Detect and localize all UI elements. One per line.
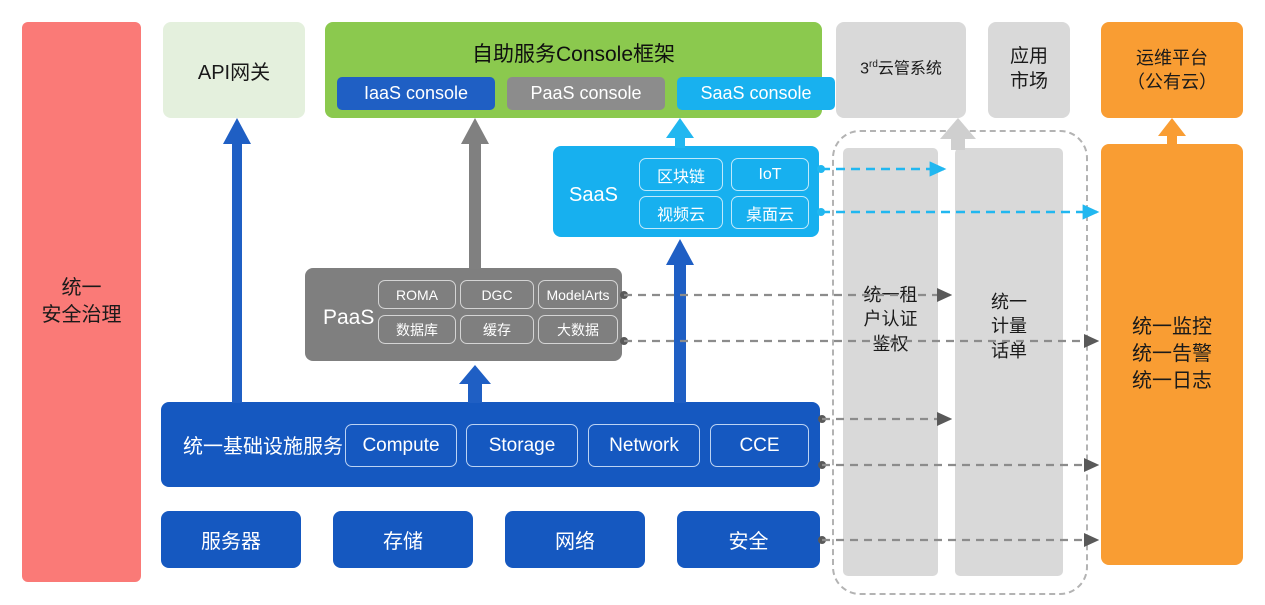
auth-pillar-line3: 鉴权: [843, 332, 938, 356]
hardware-storage-label: 存储: [383, 525, 423, 554]
hardware-network-box[interactable]: 网络: [505, 511, 645, 568]
infra-service-cce-label: CCE: [739, 435, 779, 457]
paas-service-modelarts-label: ModelArts: [546, 287, 609, 303]
hardware-storage-box[interactable]: 存储: [333, 511, 473, 568]
paas-service-dgc-label: DGC: [481, 287, 512, 303]
saas-console-chip[interactable]: SaaS console: [677, 77, 835, 110]
auth-pillar-line2: 户认证: [843, 307, 938, 331]
billing-pillar-text: 统一 计量 话单: [955, 290, 1063, 363]
ops-platform-line2: （公有云）: [1127, 70, 1217, 94]
infra-service-storage-label: Storage: [489, 435, 556, 457]
paas-service-database[interactable]: 数据库: [378, 315, 456, 344]
saas-block-label: SaaS: [569, 184, 618, 207]
third-party-prefix: 3: [860, 61, 869, 78]
paas-service-roma[interactable]: ROMA: [378, 280, 456, 309]
paas-service-cache-label: 缓存: [483, 320, 511, 340]
saas-service-blockchain[interactable]: 区块链: [639, 158, 723, 191]
console-framework-title: 自助服务Console框架: [325, 38, 822, 68]
arrow-infra-to-saas: [665, 239, 695, 403]
security-governance-panel: 统一 安全治理: [22, 22, 141, 582]
arrow-shared-to-third-party: [938, 118, 978, 150]
saas-service-desktopcloud[interactable]: 桌面云: [731, 196, 809, 229]
paas-console-chip[interactable]: PaaS console: [507, 77, 665, 110]
paas-service-roma-label: ROMA: [396, 287, 438, 303]
paas-service-cache[interactable]: 缓存: [460, 315, 534, 344]
ops-panel-line2: 统一告警: [1132, 341, 1212, 368]
infra-service-compute[interactable]: Compute: [345, 424, 457, 467]
arrow-shared-to-ops-platform: [1157, 118, 1187, 146]
arrow-saas-to-console: [665, 118, 695, 148]
security-panel-line2: 安全治理: [42, 302, 122, 329]
arrow-infra-to-api-gateway: [222, 118, 252, 403]
ops-platform-box[interactable]: 运维平台 （公有云）: [1101, 22, 1243, 118]
api-gateway-label: API网关: [198, 56, 270, 85]
third-party-superscript: rd: [869, 59, 878, 70]
saas-service-desktopcloud-label: 桌面云: [746, 201, 794, 225]
security-panel-line1: 统一: [42, 275, 122, 302]
saas-console-label: SaaS console: [700, 83, 811, 104]
arrow-paas-to-console: [460, 118, 490, 269]
third-party-label: 云管系统: [878, 61, 942, 78]
ops-panel-line3: 统一日志: [1132, 368, 1212, 395]
billing-pillar-line3: 话单: [955, 339, 1063, 363]
billing-pillar-line2: 计量: [955, 314, 1063, 338]
architecture-diagram: 统一 安全治理 API网关 自助服务Console框架 IaaS console…: [0, 0, 1265, 605]
iaas-console-chip[interactable]: IaaS console: [337, 77, 495, 110]
ops-panel-line1: 统一监控: [1132, 314, 1212, 341]
iaas-console-label: IaaS console: [364, 83, 468, 104]
third-party-cloud-mgmt-box[interactable]: 3rd云管系统: [836, 22, 966, 118]
infra-service-cce[interactable]: CCE: [710, 424, 809, 467]
arrow-infra-to-paas: [458, 365, 492, 403]
infra-service-network[interactable]: Network: [588, 424, 700, 467]
paas-block: PaaS ROMA DGC ModelArts 数据库 缓存 大数据: [305, 268, 622, 361]
saas-service-iot[interactable]: IoT: [731, 158, 809, 191]
app-market-line2: 市场: [1010, 70, 1048, 95]
saas-block: SaaS 区块链 IoT 视频云 桌面云: [553, 146, 819, 237]
hardware-security-label: 安全: [729, 525, 769, 554]
paas-block-label: PaaS: [323, 306, 374, 330]
paas-console-label: PaaS console: [530, 83, 641, 104]
paas-service-modelarts[interactable]: ModelArts: [538, 280, 618, 309]
saas-service-blockchain-label: 区块链: [657, 163, 705, 187]
hardware-server-label: 服务器: [201, 525, 261, 554]
paas-service-bigdata-label: 大数据: [557, 320, 599, 340]
hardware-security-box[interactable]: 安全: [677, 511, 820, 568]
saas-service-iot-label: IoT: [758, 166, 781, 184]
paas-service-bigdata[interactable]: 大数据: [538, 315, 618, 344]
paas-service-dgc[interactable]: DGC: [460, 280, 534, 309]
auth-pillar-text: 统一租 户认证 鉴权: [843, 283, 938, 356]
paas-service-database-label: 数据库: [396, 320, 438, 340]
saas-service-videocloud[interactable]: 视频云: [639, 196, 723, 229]
infra-service-compute-label: Compute: [362, 435, 439, 457]
ops-platform-line1: 运维平台: [1127, 46, 1217, 70]
hardware-server-box[interactable]: 服务器: [161, 511, 301, 568]
infrastructure-label: 统一基础设施服务: [183, 430, 343, 459]
app-market-box[interactable]: 应用 市场: [988, 22, 1070, 118]
unified-ops-panel: 统一监控 统一告警 统一日志: [1101, 144, 1243, 565]
billing-pillar-line1: 统一: [955, 290, 1063, 314]
app-market-line1: 应用: [1010, 45, 1048, 70]
infrastructure-block: 统一基础设施服务 Compute Storage Network CCE: [161, 402, 820, 487]
auth-pillar-line1: 统一租: [843, 283, 938, 307]
api-gateway-box[interactable]: API网关: [163, 22, 305, 118]
infra-service-storage[interactable]: Storage: [466, 424, 578, 467]
infra-service-network-label: Network: [609, 435, 679, 457]
saas-service-videocloud-label: 视频云: [657, 201, 705, 225]
auth-pillar: [843, 148, 938, 576]
console-framework-box: 自助服务Console框架 IaaS console PaaS console …: [325, 22, 822, 118]
hardware-network-label: 网络: [555, 525, 595, 554]
